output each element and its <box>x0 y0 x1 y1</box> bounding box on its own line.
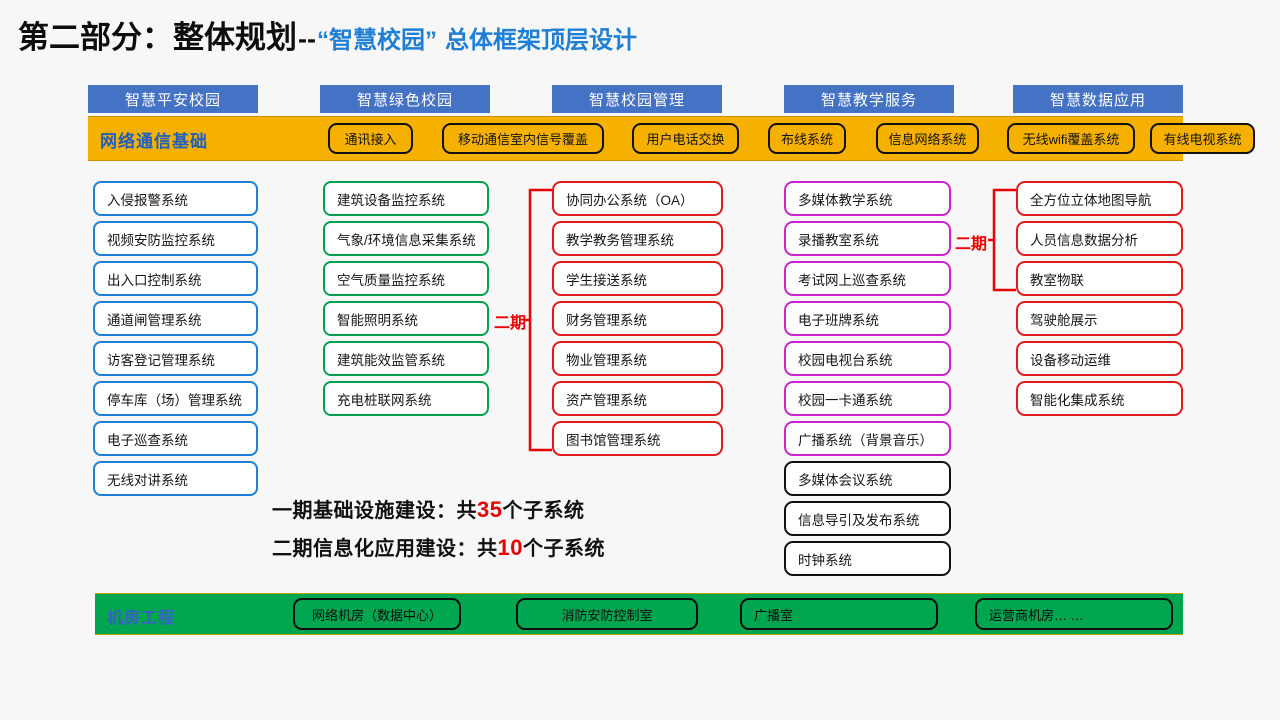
summary-line-1: 一期基础设施建设：共35个子系统 <box>272 494 605 523</box>
network-band-title: 网络通信基础 <box>100 127 208 152</box>
system-box[interactable]: 校园电视台系统 <box>784 341 951 376</box>
phase-bracket-campus-management <box>524 187 556 453</box>
system-box[interactable]: 充电桩联网系统 <box>323 381 489 416</box>
page-title-quoted: “智慧校园” <box>317 20 437 55</box>
system-box[interactable]: 图书馆管理系统 <box>552 421 723 456</box>
column-data-application: 全方位立体地图导航人员信息数据分析教室物联驾驶舱展示设备移动运维智能化集成系统 <box>1016 181 1183 421</box>
category-header-4[interactable]: 智慧教学服务 <box>784 85 954 113</box>
machine-room-pill-2[interactable]: 消防安防控制室 <box>516 598 698 630</box>
page-title-main: 第二部分：整体规划 <box>18 12 297 57</box>
system-box[interactable]: 多媒体教学系统 <box>784 181 951 216</box>
system-box[interactable]: 多媒体会议系统 <box>784 461 951 496</box>
system-box[interactable]: 电子班牌系统 <box>784 301 951 336</box>
system-box[interactable]: 智能化集成系统 <box>1016 381 1183 416</box>
system-box[interactable]: 资产管理系统 <box>552 381 723 416</box>
system-box[interactable]: 时钟系统 <box>784 541 951 576</box>
system-box[interactable]: 出入口控制系统 <box>93 261 258 296</box>
network-pill-3[interactable]: 用户电话交换 <box>632 123 739 154</box>
system-box[interactable]: 建筑能效监管系统 <box>323 341 489 376</box>
system-box[interactable]: 协同办公系统（OA） <box>552 181 723 216</box>
network-pill-7[interactable]: 有线电视系统 <box>1150 123 1255 154</box>
system-box[interactable]: 访客登记管理系统 <box>93 341 258 376</box>
column-safe-campus: 入侵报警系统视频安防监控系统出入口控制系统通道闸管理系统访客登记管理系统停车库（… <box>93 181 258 501</box>
network-pill-5[interactable]: 信息网络系统 <box>876 123 979 154</box>
system-box[interactable]: 智能照明系统 <box>323 301 489 336</box>
summary-line-2: 二期信息化应用建设：共10个子系统 <box>272 532 605 561</box>
system-box[interactable]: 教室物联 <box>1016 261 1183 296</box>
system-box[interactable]: 信息导引及发布系统 <box>784 501 951 536</box>
phase-two-label-2: 二期 <box>955 230 987 254</box>
system-box[interactable]: 考试网上巡查系统 <box>784 261 951 296</box>
page-title: 第二部分：整体规划 -- “智慧校园” 总体框架顶层设计 <box>18 12 1258 58</box>
system-box[interactable]: 广播系统（背景音乐） <box>784 421 951 456</box>
machine-room-pill-4[interactable]: 运营商机房… … <box>975 598 1173 630</box>
phase-two-label-1: 二期 <box>494 309 526 333</box>
network-pill-2[interactable]: 移动通信室内信号覆盖 <box>442 123 604 154</box>
network-pill-1[interactable]: 通讯接入 <box>328 123 413 154</box>
summary-count: 35 <box>477 497 502 522</box>
summary-count: 10 <box>498 535 523 560</box>
phase-bracket-data-application <box>988 187 1020 293</box>
summary-suffix: 个子系统 <box>502 500 584 522</box>
system-box[interactable]: 建筑设备监控系统 <box>323 181 489 216</box>
system-box[interactable]: 无线对讲系统 <box>93 461 258 496</box>
category-header-2[interactable]: 智慧绿色校园 <box>320 85 490 113</box>
column-teaching-service: 多媒体教学系统录播教室系统考试网上巡查系统电子班牌系统校园电视台系统校园一卡通系… <box>784 181 951 581</box>
summary-suffix: 个子系统 <box>523 538 605 560</box>
network-infrastructure-band: 网络通信基础 通讯接入移动通信室内信号覆盖用户电话交换布线系统信息网络系统无线w… <box>88 116 1183 161</box>
page-title-dash: -- <box>298 24 316 55</box>
system-box[interactable]: 停车库（场）管理系统 <box>93 381 258 416</box>
summary-prefix: 一期基础设施建设：共 <box>272 500 477 522</box>
system-box[interactable]: 物业管理系统 <box>552 341 723 376</box>
system-box[interactable]: 空气质量监控系统 <box>323 261 489 296</box>
system-box[interactable]: 视频安防监控系统 <box>93 221 258 256</box>
system-box[interactable]: 人员信息数据分析 <box>1016 221 1183 256</box>
page-title-subtitle: 总体框架顶层设计 <box>445 20 637 55</box>
system-box[interactable]: 设备移动运维 <box>1016 341 1183 376</box>
summary-block: 一期基础设施建设：共35个子系统二期信息化应用建设：共10个子系统 <box>272 494 605 570</box>
category-header-1[interactable]: 智慧平安校园 <box>88 85 258 113</box>
column-green-campus: 建筑设备监控系统气象/环境信息采集系统空气质量监控系统智能照明系统建筑能效监管系… <box>323 181 489 421</box>
system-box[interactable]: 电子巡查系统 <box>93 421 258 456</box>
system-box[interactable]: 气象/环境信息采集系统 <box>323 221 489 256</box>
column-campus-management: 协同办公系统（OA）教学教务管理系统学生接送系统财务管理系统物业管理系统资产管理… <box>552 181 723 461</box>
system-box[interactable]: 学生接送系统 <box>552 261 723 296</box>
machine-room-band-title: 机房工程 <box>107 604 175 628</box>
system-box[interactable]: 驾驶舱展示 <box>1016 301 1183 336</box>
network-pill-4[interactable]: 布线系统 <box>768 123 846 154</box>
summary-prefix: 二期信息化应用建设：共 <box>272 538 498 560</box>
system-box[interactable]: 教学教务管理系统 <box>552 221 723 256</box>
system-box[interactable]: 校园一卡通系统 <box>784 381 951 416</box>
system-box[interactable]: 入侵报警系统 <box>93 181 258 216</box>
system-box[interactable]: 录播教室系统 <box>784 221 951 256</box>
machine-room-pill-1[interactable]: 网络机房（数据中心） <box>293 598 461 630</box>
category-header-3[interactable]: 智慧校园管理 <box>552 85 722 113</box>
category-header-5[interactable]: 智慧数据应用 <box>1013 85 1183 113</box>
system-box[interactable]: 通道闸管理系统 <box>93 301 258 336</box>
system-box[interactable]: 全方位立体地图导航 <box>1016 181 1183 216</box>
machine-room-band: 机房工程 网络机房（数据中心）消防安防控制室广播室运营商机房… … <box>95 593 1183 635</box>
system-box[interactable]: 财务管理系统 <box>552 301 723 336</box>
network-pill-6[interactable]: 无线wifi覆盖系统 <box>1007 123 1135 154</box>
machine-room-pill-3[interactable]: 广播室 <box>740 598 938 630</box>
